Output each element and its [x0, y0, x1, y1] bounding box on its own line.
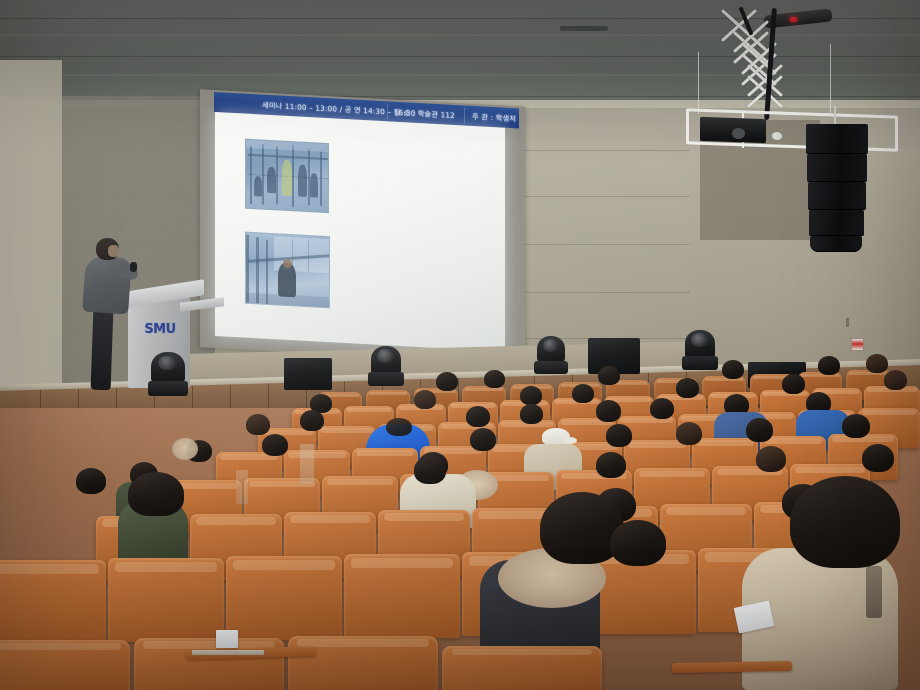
presenter-face: [108, 245, 119, 257]
attendee-head: [436, 372, 458, 391]
attendee-head: [520, 386, 542, 405]
seat: [108, 558, 224, 642]
seat: [442, 646, 602, 690]
attendee-head: [746, 418, 773, 442]
projector-lens: [732, 128, 745, 139]
attendee-head: [676, 378, 699, 398]
lift-guy-wire: [830, 44, 831, 114]
attendee-head: [756, 446, 786, 472]
attendee-head: [414, 390, 436, 409]
fur-hood-attendee: [172, 438, 198, 460]
attendee-head: [866, 354, 888, 373]
attendee-head: [520, 404, 543, 424]
line-array-speaker: [806, 124, 870, 249]
attendee-head: [386, 418, 412, 436]
aisle-floor: [236, 470, 248, 504]
lift-knob: [772, 132, 782, 140]
moving-head-light: [148, 352, 188, 396]
moving-head-light: [534, 336, 568, 374]
wall-hook: [846, 318, 849, 327]
seat: [288, 636, 438, 690]
smu-logo: SMU: [140, 322, 180, 337]
attendee-head: [790, 476, 900, 568]
attendee-head: [470, 428, 496, 451]
attendee-head: [262, 434, 288, 456]
seat-label-plate: [192, 650, 264, 655]
slide-content: [215, 112, 505, 352]
moving-head-light: [368, 346, 404, 386]
seat: [226, 556, 342, 640]
banner-host-text: 주 관 : 학생처: [472, 112, 516, 124]
aisle-floor: [300, 444, 314, 484]
attendee-head: [862, 444, 894, 472]
attendee-head: [884, 370, 907, 390]
stage-monitor-speaker: [284, 358, 332, 390]
projector-lift: [672, 0, 920, 160]
presenter-legs: [91, 308, 114, 391]
attendee-head: [722, 360, 744, 379]
speaker-suspension: [834, 106, 836, 126]
gym-training-photo: [245, 139, 329, 214]
workshop-photo: [245, 232, 330, 309]
attendee-head: [606, 424, 632, 447]
cap-brim: [563, 437, 577, 444]
attendee-head: [610, 520, 666, 566]
attendee-head: [76, 468, 106, 494]
attendee-head: [650, 398, 674, 419]
projection-screen: 세미나 11:00 – 13:00 / 공 연 14:30 – 16:30 장 …: [200, 89, 525, 365]
fire-extinguisher-sign: [851, 338, 864, 351]
attendee-head: [598, 366, 620, 385]
attendee-head: [484, 370, 505, 388]
attendee-head: [676, 422, 702, 445]
auditorium-photo: 세미나 11:00 – 13:00 / 공 연 14:30 – 16:30 장 …: [0, 0, 920, 690]
attendee-head: [300, 410, 324, 431]
seat: [0, 640, 130, 690]
attendee-head: [466, 406, 490, 427]
attendee-head: [782, 374, 805, 394]
attendee-head: [596, 452, 626, 478]
banner-place-text: 장 소 : 학술관 112: [394, 108, 455, 121]
handout-paper: [216, 630, 238, 648]
attendee-head: [414, 456, 446, 484]
seat: [0, 560, 106, 644]
left-wall-lit: [0, 60, 62, 400]
lift-guy-wire: [698, 52, 699, 114]
ceiling-fixture: [560, 26, 608, 31]
attendee-head: [842, 414, 870, 438]
projector-power-led: [790, 17, 797, 22]
seat-armrest: [672, 661, 792, 673]
attendee-head: [818, 356, 840, 375]
seat: [134, 638, 284, 690]
microphone: [130, 262, 137, 272]
attendee-head: [596, 400, 621, 422]
attendee-head: [572, 384, 594, 403]
attendee-head: [128, 472, 184, 516]
attendee-head: [246, 414, 270, 435]
presenter: [82, 238, 138, 390]
seat: [344, 554, 460, 638]
moving-head-light: [682, 330, 718, 370]
banner-divider: [387, 103, 388, 119]
coat-strap: [866, 566, 882, 618]
banner-divider: [464, 107, 465, 123]
